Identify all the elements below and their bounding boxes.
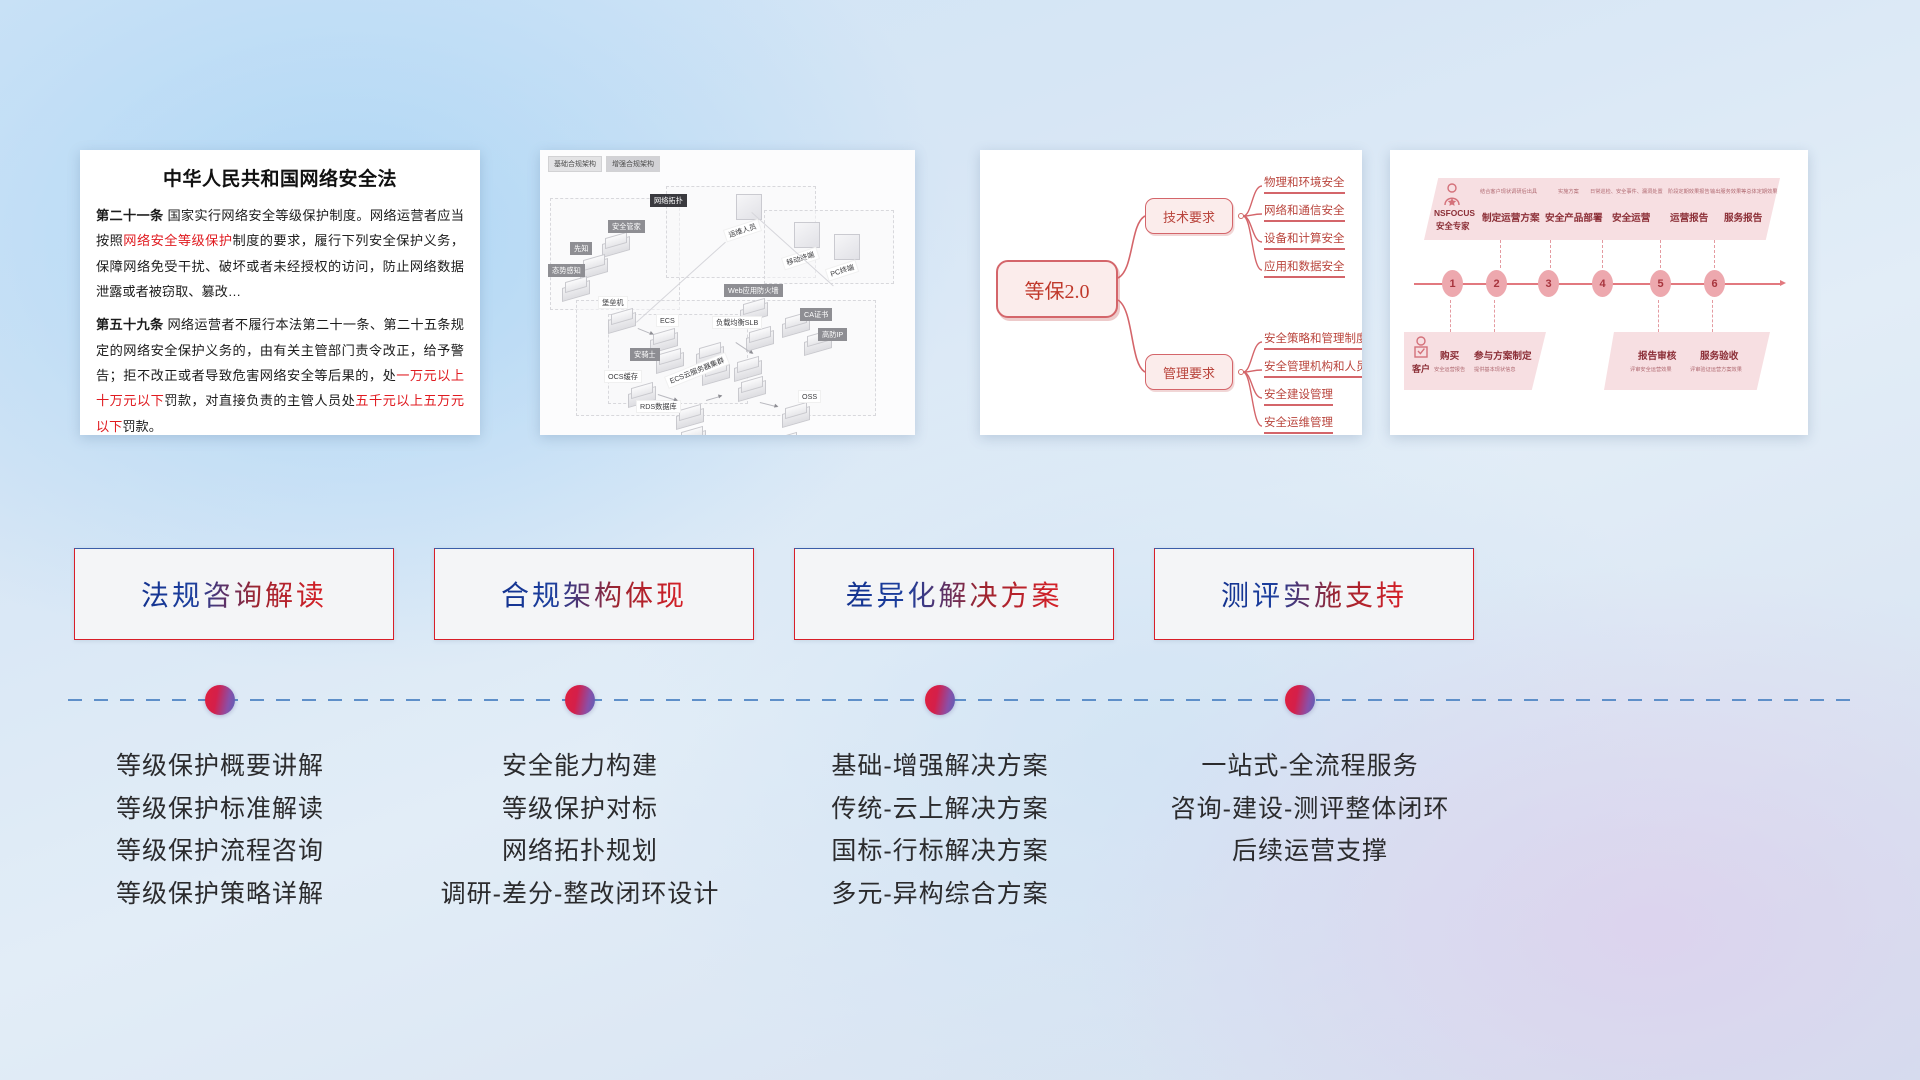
timeline-dot-2[interactable]: [565, 685, 595, 715]
list-item: 等级保护对标: [400, 788, 760, 831]
section-title-label-3: 差异化解决方案: [845, 574, 1062, 614]
section-title-label-4: 测评实施支持: [1221, 574, 1407, 614]
customer-task-3-title: 报告审核: [1638, 348, 1676, 362]
roadmap-node-2[interactable]: 2: [1486, 270, 1507, 297]
label-rds-database: RDS数据库: [636, 400, 681, 413]
roadmap-step-4-sub: 日常巡检、安全事件、漏洞处置: [1590, 188, 1663, 195]
section-title-row: 法规咨询解读 合规架构体现 差异化解决方案 测评实施支持: [0, 548, 1920, 640]
roadmap-stem-2-down: [1494, 300, 1495, 332]
tab-basic-compliance[interactable]: 基础合规架构: [548, 156, 602, 172]
list-item: 等级保护标准解读: [40, 788, 400, 831]
section-title-box-regulation[interactable]: 法规咨询解读: [74, 548, 394, 640]
list-item: 一站式-全流程服务: [1130, 745, 1490, 788]
mindmap-leaf-device-computing: 设备和计算安全: [1264, 230, 1345, 250]
section-title-label-2: 合规架构体现: [501, 574, 687, 614]
media-cards-row: 中华人民共和国网络安全法 第二十一条 国家实行网络安全等级保护制度。网络运营者应…: [0, 150, 1920, 450]
roadmap-node-1[interactable]: 1: [1442, 270, 1463, 297]
label-situation-awareness: 态势感知: [548, 264, 585, 277]
roadmap-step-2-sub: 结合客户现状调研后出具: [1480, 188, 1537, 195]
mindmap-collapse-dot-technical[interactable]: [1238, 213, 1244, 219]
label-server-guard: 安骑士: [630, 348, 660, 361]
provider-person-icon: [1442, 183, 1462, 207]
mindmap-leaf-application-data: 应用和数据安全: [1264, 258, 1345, 278]
roadmap-step-2-title: 制定运营方案: [1482, 210, 1540, 224]
roadmap-customer-band-right: [1604, 332, 1770, 390]
card-dengbao-mindmap[interactable]: 等保2.0 技术要求 物理和环境安全 网络和通信安全 设备和计算安全 应用和数据…: [980, 150, 1362, 435]
customer-person-icon: [1412, 336, 1430, 360]
customer-task-3-sub: 评审安全运营效果: [1630, 366, 1672, 373]
law-article-59-seg-4: 罚款。: [122, 419, 162, 434]
card-cybersecurity-law[interactable]: 中华人民共和国网络安全法 第二十一条 国家实行网络安全等级保护制度。网络运营者应…: [80, 150, 480, 435]
label-web-application-firewall: Web应用防火墙: [724, 284, 783, 297]
list-item: 安全能力构建: [400, 745, 760, 788]
mindmap: 等保2.0 技术要求 物理和环境安全 网络和通信安全 设备和计算安全 应用和数据…: [980, 150, 1362, 435]
roadmap: NSFOCUS 安全专家 结合客户现状调研后出具 制定运营方案 实施方案 安全产…: [1390, 150, 1808, 435]
architecture-tabs[interactable]: 基础合规架构 增强合规架构: [548, 156, 660, 172]
roadmap-step-6-sub: 输出服务效果等总体定期效果: [1710, 188, 1777, 195]
section-title-box-architecture[interactable]: 合规架构体现: [434, 548, 754, 640]
list-item: 网络拓扑规划: [400, 830, 760, 873]
roadmap-node-3[interactable]: 3: [1538, 270, 1559, 297]
label-bastion-host: 堡垒机: [598, 296, 628, 309]
list-item: 基础-增强解决方案: [760, 745, 1120, 788]
law-article-59: 第五十九条 网络运营者不履行本法第二十一条、第二十五条规定的网络安全保护义务的，…: [96, 312, 464, 435]
roadmap-step-3-title: 安全产品部署: [1545, 210, 1603, 224]
provider-role-line1: NSFOCUS: [1434, 208, 1475, 218]
tab-enhanced-compliance[interactable]: 增强合规架构: [606, 156, 660, 172]
label-xianzhi: 先知: [570, 242, 592, 255]
customer-task-2-sub: 提供基本现状信息: [1474, 366, 1516, 373]
timeline-dot-1[interactable]: [205, 685, 235, 715]
list-item: 后续运营支撑: [1130, 830, 1490, 873]
law-article-21: 第二十一条 国家实行网络安全等级保护制度。网络运营者应当按照网络安全等级保护制度…: [96, 203, 464, 304]
label-ca-certificate: CA证书: [800, 308, 832, 321]
law-article-21-number: 第二十一条: [96, 208, 163, 223]
customer-task-1-title: 购买: [1440, 348, 1459, 362]
roadmap-stem-3-up: [1550, 240, 1551, 268]
law-document: 中华人民共和国网络安全法 第二十一条 国家实行网络安全等级保护制度。网络运营者应…: [80, 150, 480, 435]
mindmap-leaf-security-policy: 安全策略和管理制度: [1264, 330, 1362, 350]
timeline-dashed-line: [68, 699, 1852, 701]
roadmap-step-4-title: 安全运营: [1612, 210, 1650, 224]
list-item: 国标-行标解决方案: [760, 830, 1120, 873]
list-item: 等级保护概要讲解: [40, 745, 400, 788]
roadmap-node-4[interactable]: 4: [1592, 270, 1613, 297]
roadmap-stem-4-up: [1602, 240, 1603, 268]
mindmap-collapse-dot-management[interactable]: [1238, 369, 1244, 375]
roadmap-step-5-title: 运营报告: [1670, 210, 1708, 224]
label-anti-ddos-ip: 高防IP: [818, 328, 847, 341]
feature-list-solution: 基础-增强解决方案 传统-云上解决方案 国标-行标解决方案 多元-异构综合方案: [760, 745, 1120, 915]
label-ocs-cache: OCS缓存: [604, 370, 642, 383]
law-article-59-seg-2: 罚款，对直接负责的主管人员处: [164, 393, 355, 408]
list-item: 咨询-建设-测评整体闭环: [1130, 788, 1490, 831]
law-title: 中华人民共和国网络安全法: [96, 164, 464, 191]
mindmap-root-node: 等保2.0: [996, 260, 1118, 318]
customer-task-2-title: 参与方案制定: [1474, 348, 1532, 362]
roadmap-node-6[interactable]: 6: [1704, 270, 1725, 297]
roadmap-stem-5-down: [1658, 300, 1659, 332]
list-item: 调研-差分-整改闭环设计: [400, 873, 760, 916]
customer-task-4-sub: 评审验证运营方案效果: [1690, 366, 1742, 373]
customer-task-1-sub: 安全运营报告: [1434, 366, 1465, 373]
mindmap-branch-management: 管理要求: [1145, 354, 1233, 390]
list-item: 等级保护流程咨询: [40, 830, 400, 873]
roadmap-node-5[interactable]: 5: [1650, 270, 1671, 297]
provider-role-line2: 安全专家: [1436, 220, 1470, 232]
feature-lists-row: 等级保护概要讲解 等级保护标准解读 等级保护流程咨询 等级保护策略详解 安全能力…: [0, 745, 1920, 975]
roadmap-stem-6-down: [1712, 300, 1713, 332]
mindmap-leaf-security-org: 安全管理机构和人员: [1264, 358, 1362, 378]
timeline: [0, 670, 1920, 730]
mindmap-branch-technical: 技术要求: [1145, 198, 1233, 234]
card-service-roadmap[interactable]: NSFOCUS 安全专家 结合客户现状调研后出具 制定运营方案 实施方案 安全产…: [1390, 150, 1808, 435]
mindmap-leaf-physical-environment: 物理和环境安全: [1264, 174, 1345, 194]
label-slb: 负载均衡SLB: [712, 316, 762, 329]
architecture-diagram: 基础合规架构 增强合规架构 网络拓扑 安全管家 先知 态势感知 堡垒机: [540, 150, 915, 435]
section-title-box-solution[interactable]: 差异化解决方案: [794, 548, 1114, 640]
timeline-dot-4[interactable]: [1285, 685, 1315, 715]
list-item: 传统-云上解决方案: [760, 788, 1120, 831]
law-article-59-number: 第五十九条: [96, 317, 163, 332]
customer-task-4-title: 服务验收: [1700, 348, 1738, 362]
mindmap-leaf-security-construction: 安全建设管理: [1264, 386, 1333, 406]
label-oss: OSS: [798, 390, 821, 403]
label-network-topology: 网络拓扑: [650, 194, 687, 207]
roadmap-step-5-sub: 阶段定期效果报告: [1668, 188, 1710, 195]
mindmap-leaf-security-ops: 安全运维管理: [1264, 414, 1333, 434]
roadmap-step-6-title: 服务报告: [1724, 210, 1762, 224]
list-item: 等级保护策略详解: [40, 873, 400, 916]
customer-role-label: 客户: [1412, 362, 1430, 375]
label-ecs: ECS: [656, 314, 679, 327]
feature-list-assessment: 一站式-全流程服务 咨询-建设-测评整体闭环 后续运营支撑: [1130, 745, 1490, 873]
timeline-dot-3[interactable]: [925, 685, 955, 715]
card-cloud-architecture[interactable]: 基础合规架构 增强合规架构 网络拓扑 安全管家 先知 态势感知 堡垒机: [540, 150, 915, 435]
roadmap-step-3-sub: 实施方案: [1558, 188, 1579, 195]
roadmap-stem-6-up: [1714, 240, 1715, 268]
section-title-box-assessment[interactable]: 测评实施支持: [1154, 548, 1474, 640]
section-title-label-1: 法规咨询解读: [141, 574, 327, 614]
list-item: 多元-异构综合方案: [760, 873, 1120, 916]
feature-list-architecture: 安全能力构建 等级保护对标 网络拓扑规划 调研-差分-整改闭环设计: [400, 745, 760, 915]
roadmap-stem-2-up: [1500, 240, 1501, 268]
roadmap-stem-5-up: [1660, 240, 1661, 268]
mindmap-leaf-network-communication: 网络和通信安全: [1264, 202, 1345, 222]
feature-list-regulation: 等级保护概要讲解 等级保护标准解读 等级保护流程咨询 等级保护策略详解: [40, 745, 400, 915]
roadmap-stem-1-down: [1450, 300, 1451, 332]
architecture-canvas: 网络拓扑 安全管家 先知 态势感知 堡垒机 运维人员 移动终端 PC终端 Web…: [546, 172, 909, 429]
law-article-21-seg-1: 网络安全等级保护: [123, 233, 232, 248]
label-security-manager: 安全管家: [608, 220, 645, 233]
